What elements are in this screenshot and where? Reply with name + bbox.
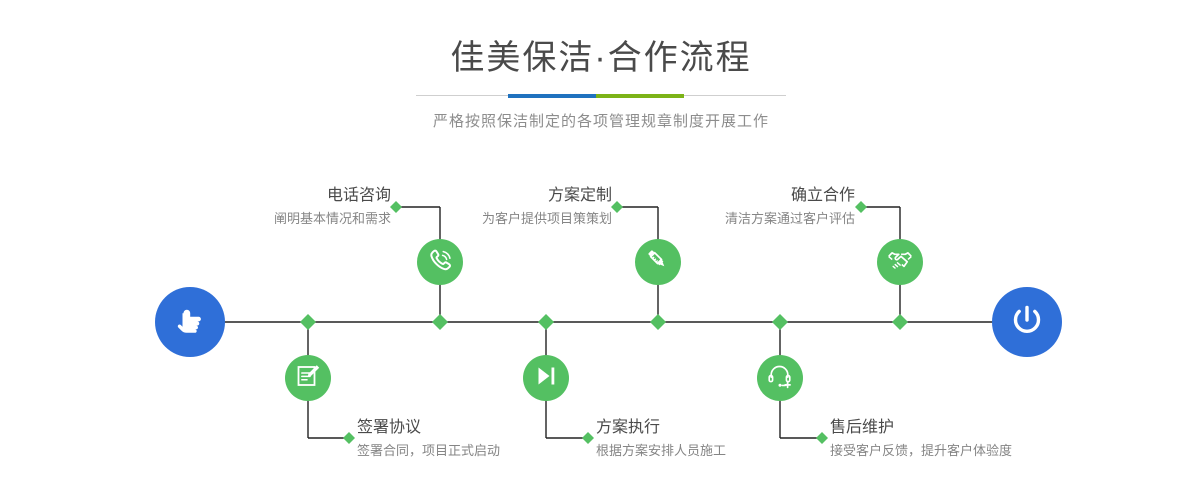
pencil-ruler-icon xyxy=(644,246,672,279)
document-sign-icon xyxy=(294,362,322,395)
step-5-title: 确立合作 xyxy=(603,186,855,206)
power-button-icon xyxy=(1006,299,1048,346)
step-4-label: 方案执行 根据方案安排人员施工 xyxy=(596,418,856,461)
process-flow-infographic: 佳美保洁·合作流程 严格按照保洁制定的各项管理规章制度开展工作 xyxy=(0,0,1202,502)
diamond-marker-step-5 xyxy=(892,314,908,330)
step-1-desc: 阐明基本情况和需求 xyxy=(136,209,391,229)
step-4-desc: 根据方案安排人员施工 xyxy=(596,441,856,461)
step-4-title: 方案执行 xyxy=(596,418,856,438)
step-5-icon-bubble[interactable] xyxy=(877,239,923,285)
step-2-label: 签署协议 签署合同，项目正式启动 xyxy=(357,418,617,461)
play-skip-icon xyxy=(532,362,560,395)
flow-start-node[interactable] xyxy=(155,287,225,357)
step-1-icon-bubble[interactable] xyxy=(417,239,463,285)
step-6-title: 售后维护 xyxy=(830,418,1120,438)
headset-support-icon xyxy=(766,362,794,395)
diamond-marker-step-3 xyxy=(650,314,666,330)
step-2-desc: 签署合同，项目正式启动 xyxy=(357,441,617,461)
diamond-label-step-5 xyxy=(855,201,867,213)
phone-call-icon xyxy=(426,246,454,279)
diamond-marker-step-4 xyxy=(538,314,554,330)
diamond-label-step-2 xyxy=(343,432,355,444)
flow-end-node[interactable] xyxy=(992,287,1062,357)
step-3-desc: 为客户提供项目策策划 xyxy=(360,209,612,229)
handshake-icon xyxy=(886,246,914,279)
step-3-label: 方案定制 为客户提供项目策策划 xyxy=(360,186,612,229)
diamond-marker-step-6 xyxy=(772,314,788,330)
step-1-label: 电话咨询 阐明基本情况和需求 xyxy=(136,186,391,229)
step-5-label: 确立合作 清洁方案通过客户评估 xyxy=(603,186,855,229)
step-2-icon-bubble[interactable] xyxy=(285,355,331,401)
step-3-icon-bubble[interactable] xyxy=(635,239,681,285)
step-6-icon-bubble[interactable] xyxy=(757,355,803,401)
diamond-marker-step-1 xyxy=(432,314,448,330)
step-5-desc: 清洁方案通过客户评估 xyxy=(603,209,855,229)
step-2-title: 签署协议 xyxy=(357,418,617,438)
step-6-desc: 接受客户反馈，提升客户体验度 xyxy=(830,441,1120,461)
step-6-label: 售后维护 接受客户反馈，提升客户体验度 xyxy=(830,418,1120,461)
step-3-title: 方案定制 xyxy=(360,186,612,206)
diamond-marker-step-2 xyxy=(300,314,316,330)
step-4-icon-bubble[interactable] xyxy=(523,355,569,401)
pointing-hand-icon xyxy=(170,300,210,345)
step-1-title: 电话咨询 xyxy=(136,186,391,206)
